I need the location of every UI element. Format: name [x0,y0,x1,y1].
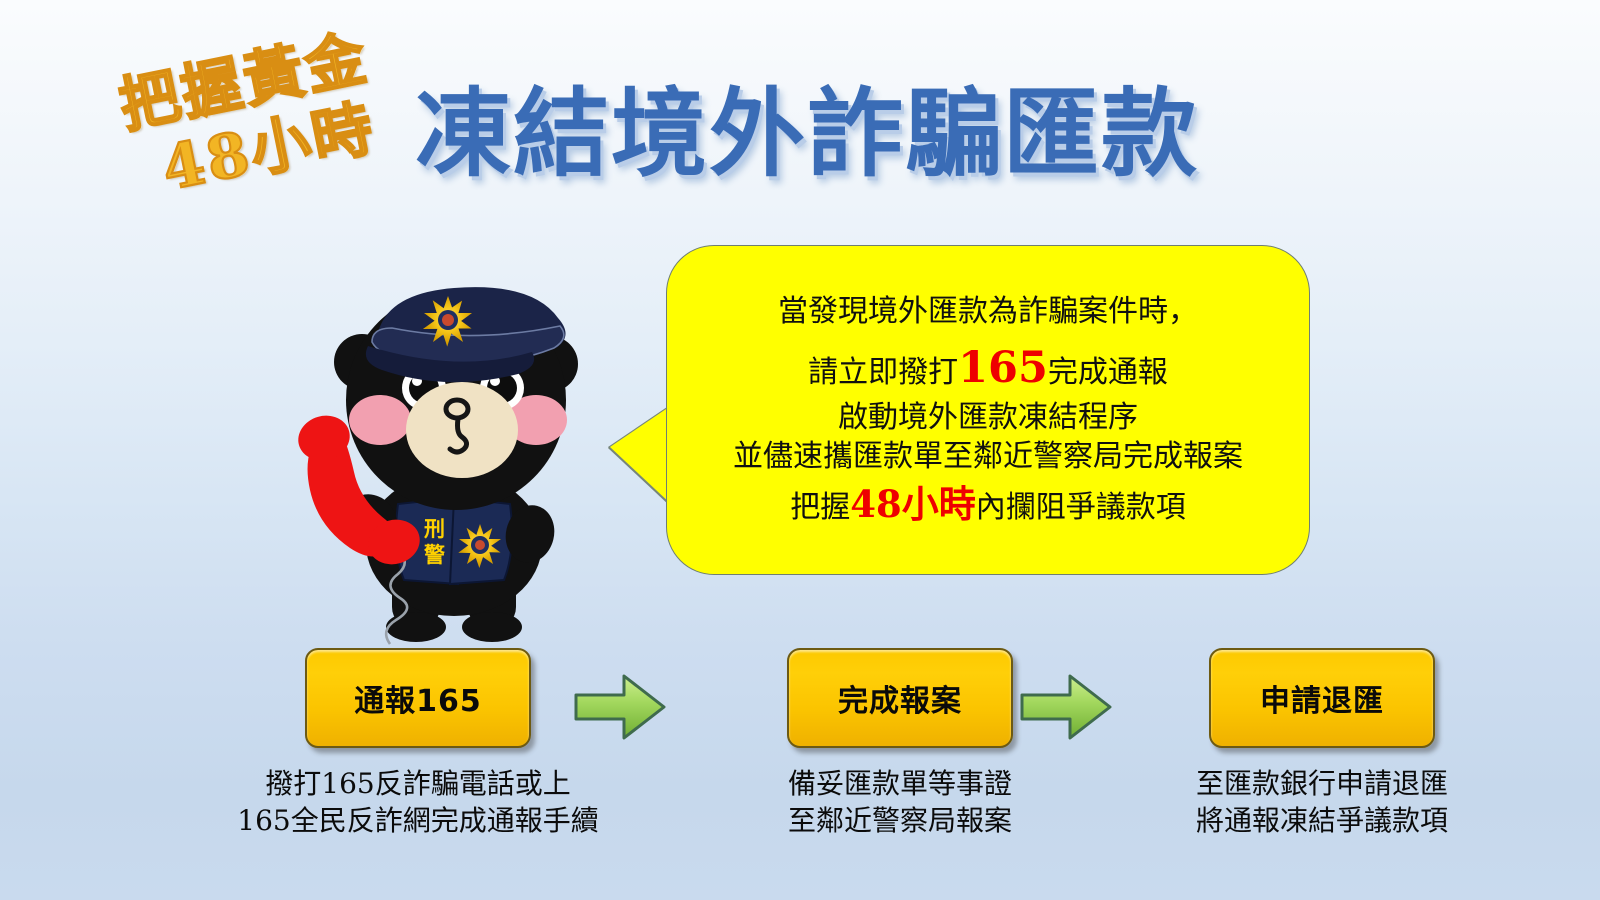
arrow-right-icon [1018,670,1114,744]
flow-step-2-caption-line1: 備妥匯款單等事證 [690,766,1110,803]
flow-step-3-caption-line2: 將通報凍結爭議款項 [1122,803,1522,840]
arrow-right-icon [572,670,668,744]
bear-head [334,286,578,510]
flow-step-3-caption-line1: 至匯款銀行申請退匯 [1122,766,1522,803]
flow-arrow-1 [572,670,668,749]
flow-step-2-caption: 備妥匯款單等事證 至鄰近警察局報案 [690,766,1110,840]
bear-cheek-left [349,395,411,445]
flow-step-3-caption: 至匯款銀行申請退匯 將通報凍結爭議款項 [1122,766,1522,840]
flow-step-3-label: 申請退匯 [1260,676,1384,720]
flow-arrow-2 [1018,670,1114,749]
poster-canvas: 把握黃金 48小時 凍結境外詐騙匯款 [0,0,1600,900]
flow-step-2-box[interactable]: 完成報案 [787,648,1013,748]
bubble-line-5: 把握48小時內攔阻爭議款項 [790,486,1186,523]
gold-headline-line2: 48小時 [77,80,460,218]
gold-headline-line1: 把握黃金 [114,23,375,142]
flow-step-3-box[interactable]: 申請退匯 [1209,648,1435,748]
bubble-line-5-post: 內攔阻爭議款項 [976,490,1186,525]
speech-bubble: 當發現境外匯款為詐騙案件時， 請立即撥打165完成通報 啟動境外匯款凍結程序 並… [610,245,1310,575]
flow-step-1-caption-line1: 撥打165反詐騙電話或上 [168,766,668,803]
bubble-line-1: 當發現境外匯款為詐騙案件時， [778,297,1198,327]
speech-bubble-tail [610,405,672,505]
bubble-line-2-post: 完成通報 [1048,355,1168,390]
bubble-line-5-pre: 把握 [790,490,850,525]
process-flow: 通報165 撥打165反詐騙電話或上 165全民反詐網完成通報手續 [0,648,1600,878]
gold-headline: 把握黃金 48小時 [42,12,461,222]
mascot-illustration: 刑 警 [272,242,642,647]
vest-label-line2: 警 [423,542,445,567]
speech-bubble-body: 當發現境外匯款為詐騙案件時， 請立即撥打165完成通報 啟動境外匯款凍結程序 並… [666,245,1310,575]
flow-step-3: 申請退匯 至匯款銀行申請退匯 將通報凍結爭議款項 [1122,648,1522,840]
bear-muzzle [406,382,518,478]
bubble-line-2: 請立即撥打165完成通報 [808,347,1168,390]
flow-step-2-caption-line2: 至鄰近警察局報案 [690,803,1110,840]
flow-step-2-label: 完成報案 [838,676,962,720]
flow-step-1-caption: 撥打165反詐騙電話或上 165全民反詐網完成通報手續 [168,766,668,840]
bubble-line-2-pre: 請立即撥打 [808,355,958,390]
flow-step-1-label: 通報165 [354,676,482,720]
flow-step-1-caption-line2: 165全民反詐網完成通報手續 [168,803,668,840]
vest-label-line1: 刑 [424,516,445,541]
hotline-number-165: 165 [958,343,1048,393]
deadline-48-hours: 48小時 [850,482,976,526]
flow-step-1-box[interactable]: 通報165 [305,648,531,748]
bubble-line-4: 並儘速攜匯款單至鄰近警察局完成報案 [733,442,1243,472]
page-title: 凍結境外詐騙匯款 [415,86,1199,182]
bubble-line-3: 啟動境外匯款凍結程序 [838,403,1138,433]
